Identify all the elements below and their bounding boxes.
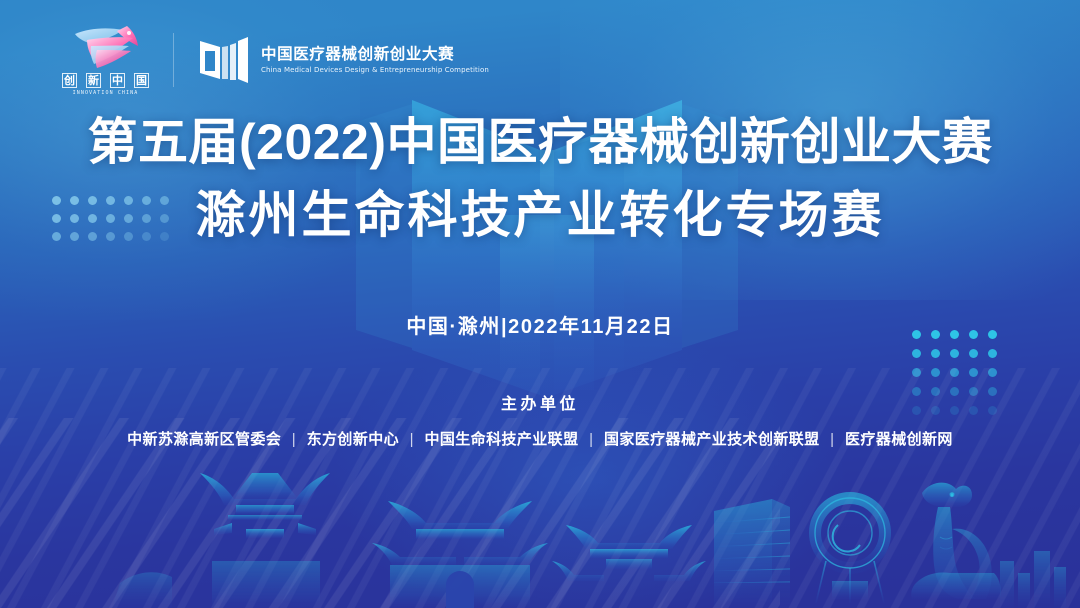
- competition-name-cn: 中国医疗器械创新创业大赛: [261, 46, 489, 64]
- char-3: 国: [134, 73, 149, 88]
- left-hill-icon: [112, 572, 172, 608]
- event-poster: 创 新 中 国 INNOVATION CHINA 中国医疗器械创新创业大赛: [0, 0, 1080, 608]
- char-1: 新: [86, 73, 101, 88]
- char-2: 中: [110, 73, 125, 88]
- poster-header: 创 新 中 国 INNOVATION CHINA 中国医疗器械创新创业大赛: [62, 24, 489, 96]
- open-door-mark-icon: [198, 35, 250, 85]
- organizer-separator: |: [404, 431, 420, 448]
- organizer-separator: |: [583, 431, 599, 448]
- organizer-item: 中国生命科技产业联盟: [424, 431, 578, 448]
- organizer-item: 中新苏滁高新区管委会: [127, 431, 281, 448]
- merlion-statue-icon: [911, 483, 1001, 599]
- innovation-china-english: INNOVATION CHINA: [73, 90, 139, 96]
- bird-emblem-icon: [67, 24, 145, 70]
- competition-logo-text: 中国医疗器械创新创业大赛 China Medical Devices Desig…: [261, 46, 489, 74]
- memorial-archway-icon: [552, 525, 706, 608]
- innovation-china-logo: 创 新 中 国 INNOVATION CHINA: [62, 24, 149, 96]
- logo-divider: [173, 33, 174, 87]
- small-buildings-icon: [1000, 551, 1066, 608]
- organizer-item: 国家医疗器械产业技术创新联盟: [604, 431, 820, 448]
- page-title: 第五届(2022)中国医疗器械创新创业大赛: [0, 112, 1080, 173]
- innovation-china-chars: 创 新 中 国: [62, 73, 149, 88]
- competition-name-en: China Medical Devices Design & Entrepren…: [261, 66, 489, 74]
- organizer-separator: |: [286, 431, 302, 448]
- poster-titles: 第五届(2022)中国医疗器械创新创业大赛 滁州生命科技产业转化专场赛: [0, 112, 1080, 246]
- city-gate-tower-icon: [372, 501, 548, 608]
- organizer-separator: |: [824, 431, 840, 448]
- char-0: 创: [62, 73, 77, 88]
- event-date-location: 中国·滁州|2022年11月22日: [0, 310, 1080, 339]
- organizers-list: 中新苏滁高新区管委会 | 东方创新中心 | 中国生命科技产业联盟 | 国家医疗器…: [0, 428, 1080, 449]
- glow-center: [330, 330, 850, 608]
- competition-logo: 中国医疗器械创新创业大赛 China Medical Devices Desig…: [198, 35, 489, 85]
- chinese-pavilion-icon: [200, 473, 330, 608]
- organizer-item: 东方创新中心: [307, 431, 399, 448]
- organizer-item: 医疗器械创新网: [845, 431, 953, 448]
- city-skyline: [0, 433, 1080, 608]
- ring-sculpture-icon: [808, 498, 892, 603]
- organizers-block: 主办单位 中新苏滁高新区管委会 | 东方创新中心 | 中国生命科技产业联盟 | …: [0, 390, 1080, 449]
- organizers-heading: 主办单位: [0, 390, 1080, 414]
- modern-highrise-icon: [714, 499, 790, 608]
- page-subtitle: 滁州生命科技产业转化专场赛: [0, 185, 1080, 246]
